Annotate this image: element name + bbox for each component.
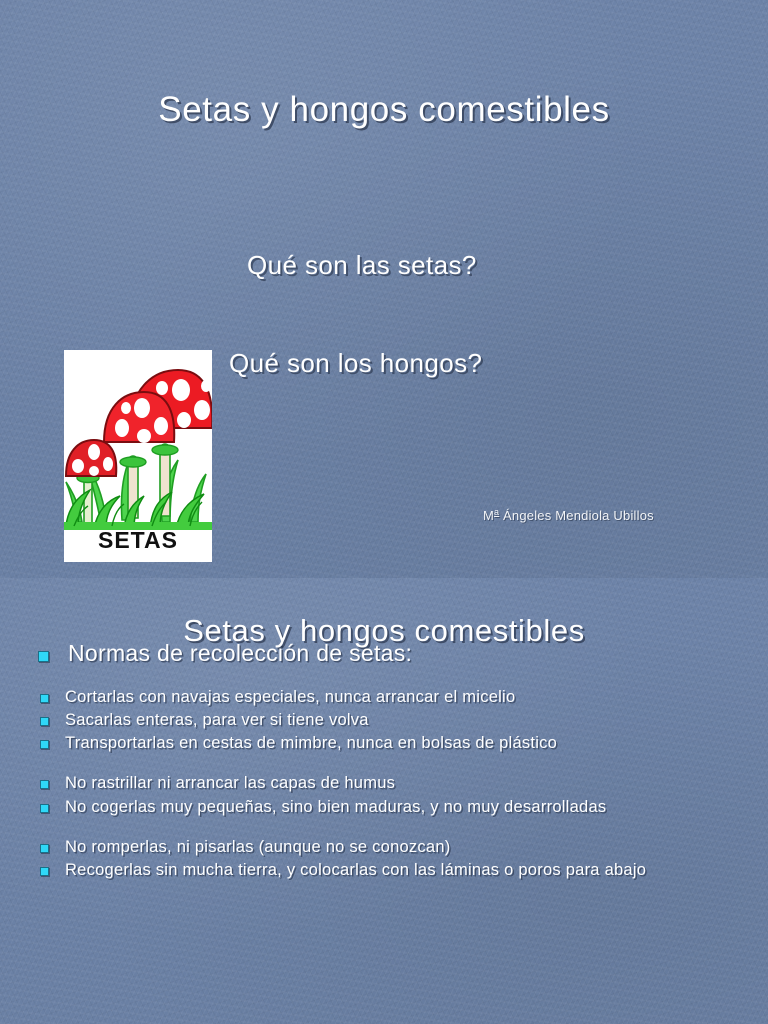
list-item: Recogerlas sin mucha tierra, y colocarla… (38, 860, 750, 880)
list-item-label: Recogerlas sin mucha tierra, y colocarla… (65, 860, 646, 880)
author-credit: Ma Ángeles Mendiola Ubillos (483, 507, 654, 523)
list-item: No rastrillar ni arrancar las capas de h… (38, 773, 750, 793)
list-item: Transportarlas en cestas de mimbre, nunc… (38, 733, 750, 753)
bullet-square-icon (40, 780, 49, 789)
bullet-square-icon (40, 717, 49, 726)
question-setas: Qué son las setas? (247, 250, 477, 281)
page-title: Setas y hongos comestibles (0, 90, 768, 130)
author-name: Ángeles Mendiola Ubillos (499, 508, 654, 523)
list-item-label: Transportarlas en cestas de mimbre, nunc… (65, 733, 557, 753)
slide-1: Setas y hongos comestibles Qué son las s… (0, 0, 768, 578)
bullet-square-icon (40, 844, 49, 853)
bullet-square-icon (40, 694, 49, 703)
list-item: No romperlas, ni pisarlas (aunque no se … (38, 837, 750, 857)
slide-deck: Setas y hongos comestibles Qué son las s… (0, 0, 768, 1024)
list-item: No cogerlas muy pequeñas, sino bien madu… (38, 797, 750, 817)
list-item: Cortarlas con navajas especiales, nunca … (38, 687, 750, 707)
bullet-list: Normas de recolección de setas: Cortarla… (38, 640, 750, 883)
list-item-label: Cortarlas con navajas especiales, nunca … (65, 687, 515, 707)
bullet-heading: Normas de recolección de setas: (38, 640, 750, 667)
question-hongos: Qué son los hongos? (229, 348, 482, 379)
mushrooms-clipart-image: SETAS (64, 350, 212, 562)
list-item-label: No cogerlas muy pequeñas, sino bien madu… (65, 797, 606, 817)
author-ordinal-prefix: M (483, 508, 494, 523)
bullet-heading-label: Normas de recolección de setas: (68, 640, 412, 667)
list-item-label: No rastrillar ni arrancar las capas de h… (65, 773, 395, 793)
slide-2: Setas y hongos comestibles Normas de rec… (0, 578, 768, 1024)
list-item: Sacarlas enteras, para ver si tiene volv… (38, 710, 750, 730)
list-item-label: Sacarlas enteras, para ver si tiene volv… (65, 710, 369, 730)
bullet-square-icon (38, 651, 49, 662)
bullet-square-icon (40, 740, 49, 749)
bullet-square-icon (40, 867, 49, 876)
bullet-square-icon (40, 804, 49, 813)
list-item-label: No romperlas, ni pisarlas (aunque no se … (65, 837, 451, 857)
clipart-caption: SETAS (64, 527, 212, 554)
